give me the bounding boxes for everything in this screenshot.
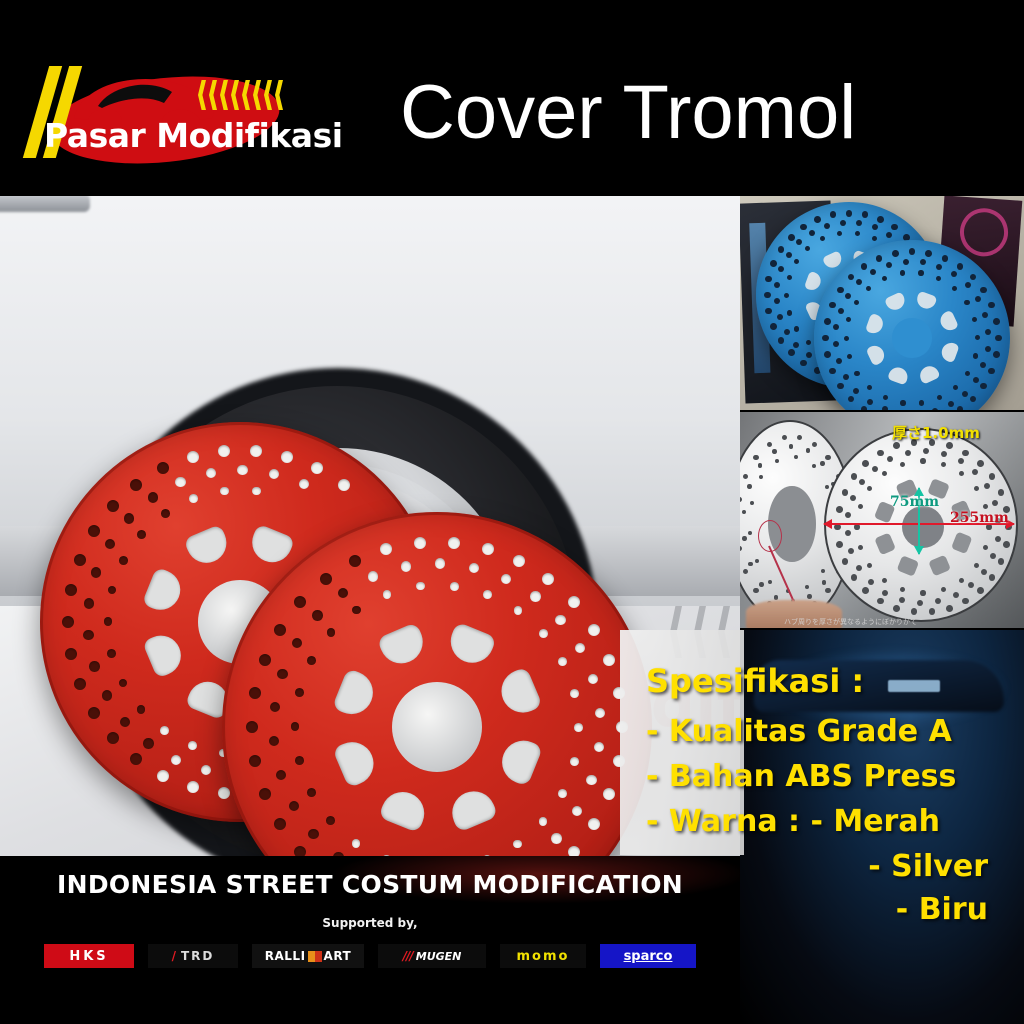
thickness-label: 厚さ1.0mm xyxy=(892,422,980,443)
sponsor-logo-momo: momo xyxy=(500,944,586,968)
brand-name: Pasar Modifikasi xyxy=(44,116,343,155)
sponsor-logo-hks: HKS xyxy=(44,944,134,968)
sponsor-logo-ralliart: RALLIART xyxy=(252,944,364,968)
ralli-label-a: RALLI xyxy=(265,949,306,963)
product-flyer: Pasar Modifikasi Cover Tromol Pasar Modi… xyxy=(0,0,1024,1024)
technical-diagram-panel: 厚さ1.0mm 255mm 75mm ハブ周りを厚さが異なるようにぼかりかて xyxy=(740,412,1024,628)
spec-title: Spesifikasi : xyxy=(646,662,1024,700)
brand-logo: Pasar Modifikasi xyxy=(20,52,280,172)
sponsor-logo-row: HKS /TRD RALLIART ///MUGEN momo sparco xyxy=(0,944,740,968)
ralliart-bar-icon xyxy=(308,951,322,962)
door-handle xyxy=(0,196,90,212)
trd-label: TRD xyxy=(181,949,214,963)
supported-by-label: Supported by, xyxy=(0,916,740,930)
footer-title: INDONESIA STREET COSTUM MODIFICATION xyxy=(0,870,740,899)
spec-line-color: - Warna : - Merah xyxy=(646,804,1024,839)
sponsor-logo-mugen: ///MUGEN xyxy=(378,944,486,968)
spec-color-silver: - Silver xyxy=(646,849,1024,884)
spec-color-blue: - Biru xyxy=(646,892,1024,927)
spec-line-material: - Bahan ABS Press xyxy=(646,759,1024,794)
specification-list: Spesifikasi : - Kualitas Grade A - Bahan… xyxy=(646,662,1024,935)
header-banner: Pasar Modifikasi Cover Tromol xyxy=(0,0,1024,196)
sponsor-logo-trd: /TRD xyxy=(148,944,238,968)
diagram-caption: ハブ周りを厚さが異なるようにぼかりかて xyxy=(784,617,917,627)
spec-line-quality: - Kualitas Grade A xyxy=(646,714,1024,749)
sponsor-logo-sparco: sparco xyxy=(600,944,696,968)
diameter-label: 255mm xyxy=(950,510,1009,526)
page-title: Cover Tromol xyxy=(400,58,960,168)
chevron-stack-icon xyxy=(198,80,286,112)
mugen-mark-icon: /// xyxy=(403,949,413,963)
trd-slash-icon: / xyxy=(172,949,178,963)
center-diameter-label: 75mm xyxy=(890,494,939,510)
blue-product-panel xyxy=(740,196,1024,410)
footer-banner: INDONESIA STREET COSTUM MODIFICATION Sup… xyxy=(0,856,740,1024)
mugen-label: MUGEN xyxy=(416,950,462,963)
ralli-label-b: ART xyxy=(324,949,352,963)
